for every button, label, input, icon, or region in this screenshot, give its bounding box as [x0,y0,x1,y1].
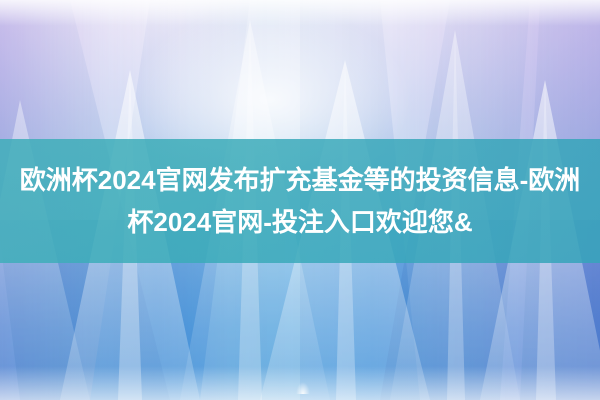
background-top-glow [0,0,600,26]
banner-caption: 欧洲杯2024官网发布扩充基金等的投资信息-欧洲杯2024官网-投注入口欢迎您& [0,159,600,243]
bottom-watermark-artifact [296,382,310,394]
caption-band: 欧洲杯2024官网发布扩充基金等的投资信息-欧洲杯2024官网-投注入口欢迎您& [0,139,600,263]
promo-banner: 欧洲杯2024官网发布扩充基金等的投资信息-欧洲杯2024官网-投注入口欢迎您& [0,0,600,400]
